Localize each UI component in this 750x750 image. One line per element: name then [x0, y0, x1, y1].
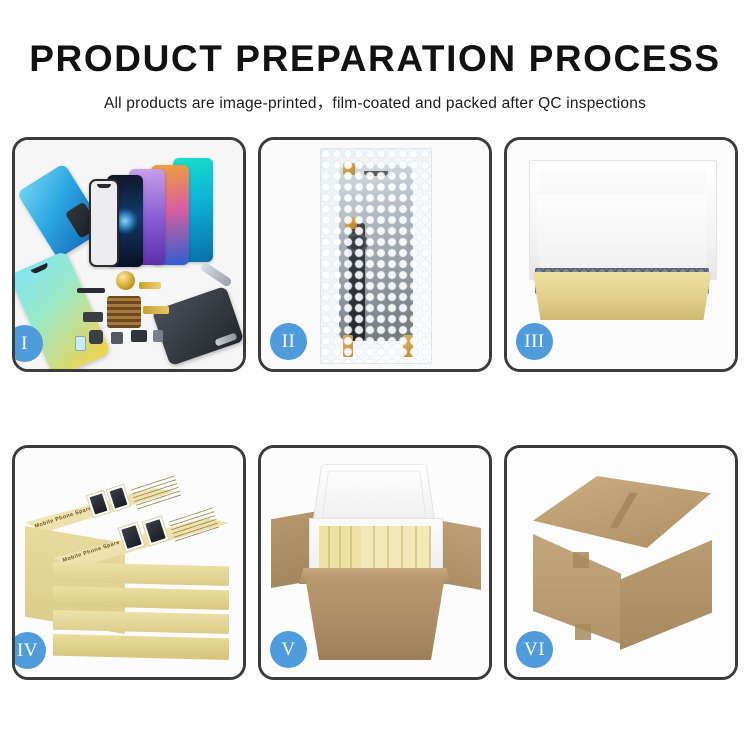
chip-grid-part-icon: [107, 296, 141, 328]
box-label-lines: [169, 507, 220, 542]
bubble-wrap-bag: [320, 148, 432, 364]
process-step-4[interactable]: Mobile Phone Spare Parts Mobile Phone Sp…: [12, 445, 246, 680]
phone-lineup-group: [89, 158, 239, 276]
bubble-texture: [321, 149, 431, 363]
part-connector-icon: [77, 288, 105, 293]
packed-boxes-row: [361, 526, 431, 572]
carton-handle-tab: [575, 624, 591, 640]
kraft-box-tray: [525, 272, 719, 320]
part-speaker-icon: [153, 330, 163, 342]
screen-glass-icon: [89, 179, 119, 267]
process-step-grid: I II: [12, 137, 738, 680]
box-layer: [53, 634, 229, 660]
page-subtitle: All products are image-printed，film-coat…: [0, 91, 750, 113]
step-4-photo: Mobile Phone Spare Parts Mobile Phone Sp…: [15, 448, 243, 677]
carton-body: [305, 576, 445, 660]
process-step-1[interactable]: I: [12, 137, 246, 372]
step-badge-3: III: [516, 323, 553, 360]
process-step-6[interactable]: VI: [504, 445, 738, 680]
step-badge-5: V: [270, 631, 307, 668]
part-bracket-icon: [83, 312, 103, 322]
step-numeral: II: [282, 331, 296, 353]
part-gold-flex-icon: [139, 282, 161, 289]
process-step-5[interactable]: V: [258, 445, 492, 680]
step-numeral: V: [281, 639, 295, 661]
gold-coil-part-icon: [116, 271, 135, 290]
part-gold-cable-icon: [143, 306, 169, 314]
step-numeral: VI: [524, 639, 545, 661]
part-sim-tray-icon: [75, 336, 86, 351]
step-numeral: IV: [17, 640, 38, 662]
step-badge-2: II: [270, 323, 307, 360]
process-step-2[interactable]: II: [258, 137, 492, 372]
part-module-icon: [131, 330, 147, 342]
page-header: PRODUCT PREPARATION PROCESS All products…: [0, 0, 750, 113]
box-label-lines: [131, 475, 182, 510]
process-step-3[interactable]: III: [504, 137, 738, 372]
carton-handle-tab: [573, 552, 589, 568]
part-square-icon: [89, 330, 103, 344]
retail-box-stack: Mobile Phone Spare Parts Mobile Phone Sp…: [21, 470, 237, 660]
white-foam-sheet: [537, 194, 707, 256]
part-button-icon: [111, 332, 123, 344]
step-numeral: I: [21, 333, 28, 355]
product-preparation-page: PRODUCT PREPARATION PROCESS All products…: [0, 0, 750, 750]
box-layer: [53, 610, 229, 634]
page-title: PRODUCT PREPARATION PROCESS: [0, 40, 750, 79]
step-badge-6: VI: [516, 631, 553, 668]
step-numeral: III: [524, 331, 544, 353]
step-1-photo: [15, 140, 243, 369]
